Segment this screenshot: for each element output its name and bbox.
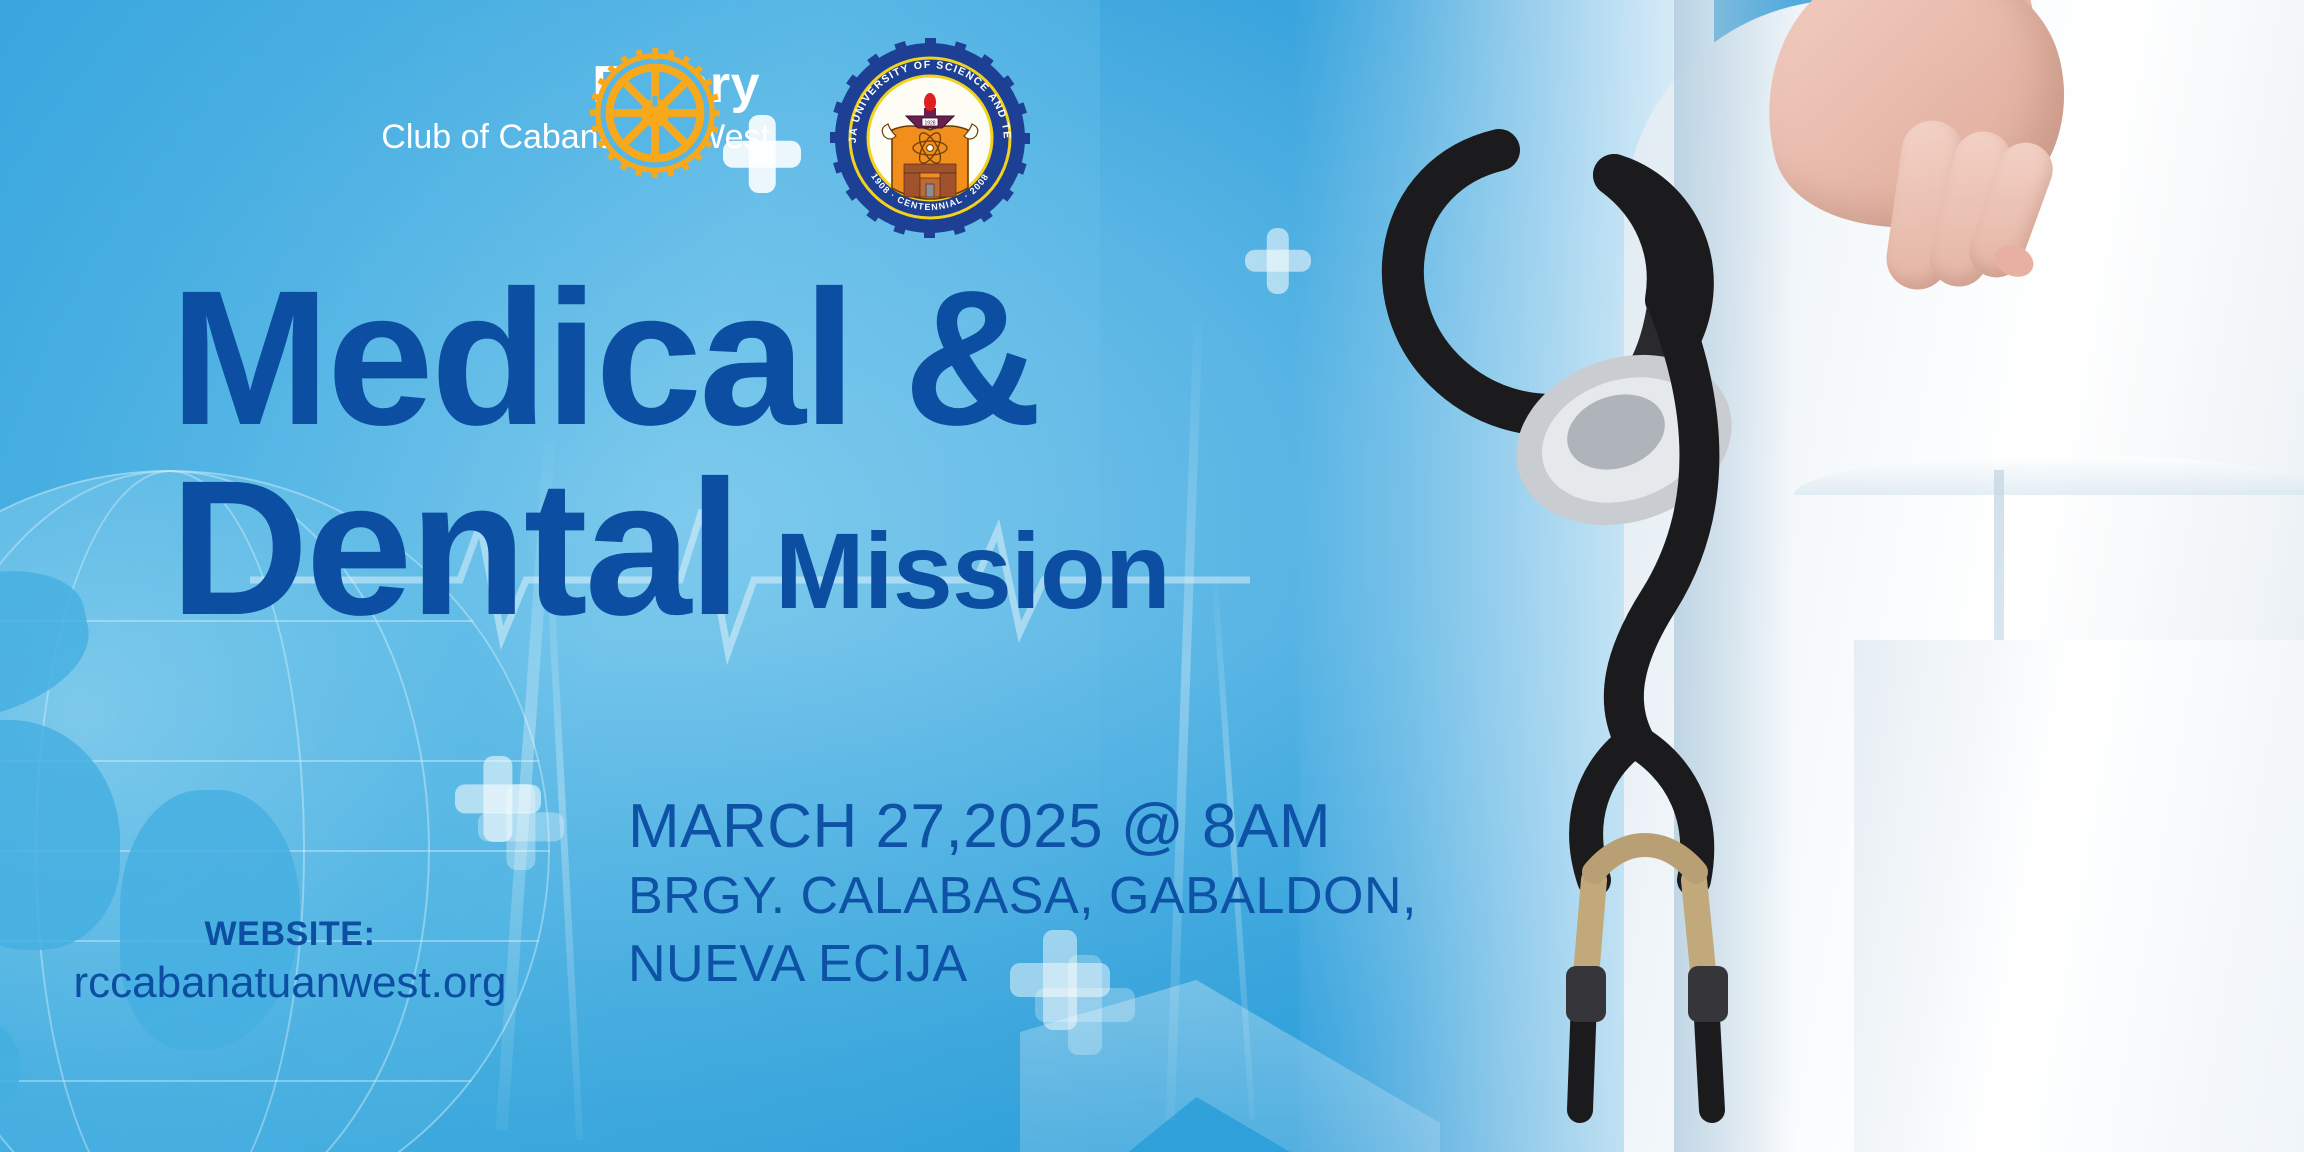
medical-cross-icon	[478, 784, 564, 870]
event-details-block: MARCH 27,2025 @ 8AM BRGY. CALABASA, GABA…	[628, 790, 1417, 998]
event-address-line-2: NUEVA ECIJA	[628, 931, 1417, 999]
headline-line-2-main: Dental	[170, 457, 739, 639]
medical-cross-icon	[723, 115, 801, 193]
headline-block: Medical & Dental Mission	[170, 270, 1470, 639]
website-label: WEBSITE:	[30, 915, 550, 954]
event-address-line-1: BRGY. CALABASA, GABALDON,	[628, 863, 1417, 931]
website-url[interactable]: rccabanatuanwest.org	[30, 958, 550, 1008]
headline-line-2-sub: Mission	[775, 520, 1170, 623]
medical-cross-icon	[455, 756, 541, 842]
event-date-time: MARCH 27,2025 @ 8AM	[628, 790, 1417, 863]
seal-torch-year: 1928	[924, 121, 935, 127]
website-block: WEBSITE: rccabanatuanwest.org	[30, 915, 550, 1008]
rotary-wheel-icon	[590, 48, 720, 178]
headline-line-1: Medical &	[170, 270, 1470, 447]
neust-seal-icon: NUEVA ECIJA UNIVERSITY OF SCIENCE AND TE…	[830, 38, 1030, 238]
event-banner: Rotary Club of Cabanatuan West	[0, 0, 2304, 1152]
